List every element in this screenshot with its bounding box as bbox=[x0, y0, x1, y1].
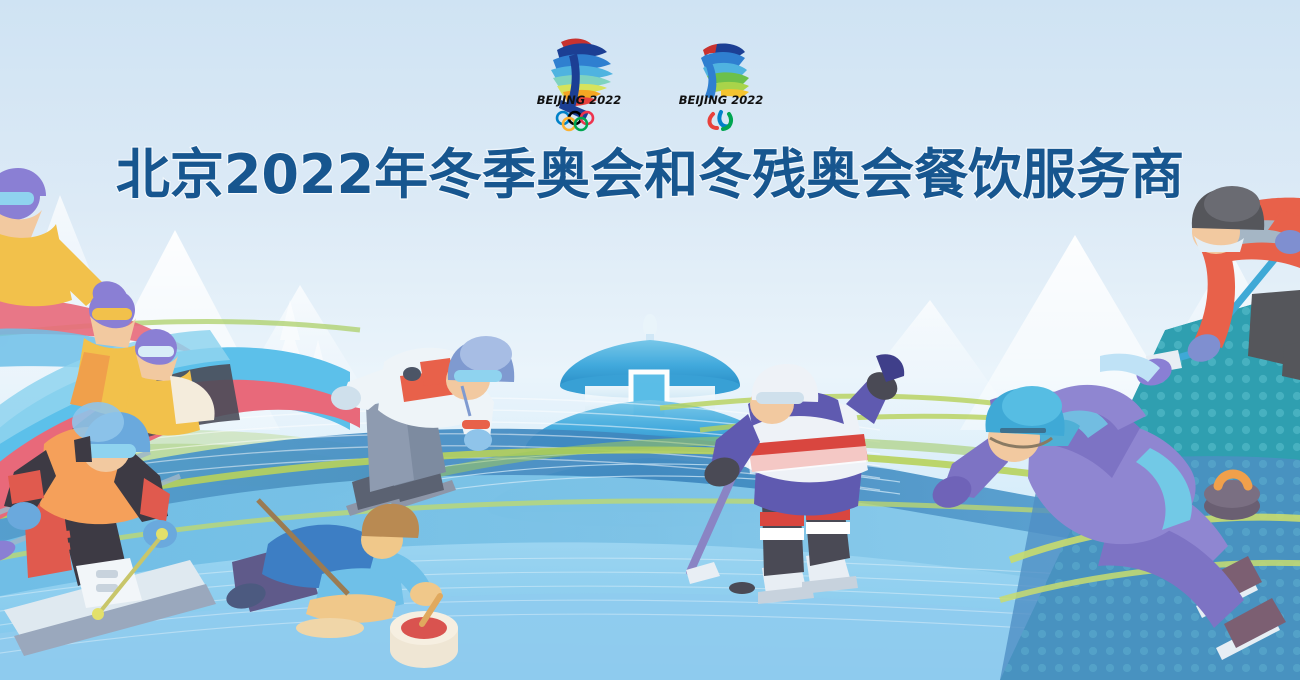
beijing-2022-olympic-emblem: BEIJING 2022 bbox=[531, 30, 627, 136]
page-title-wrap: 北京2022年冬季奥会和冬残奥会餐饮服务商 bbox=[0, 144, 1300, 206]
athlete-speed-skater bbox=[928, 385, 1286, 660]
athlete-ice-hockey bbox=[686, 354, 904, 604]
olympic-wordmark: BEIJING 2022 bbox=[537, 93, 622, 107]
page-title: 北京2022年冬季奥会和冬残奥会餐饮服务商 bbox=[116, 144, 1184, 206]
beijing-2022-paralympic-emblem: BEIJING 2022 bbox=[673, 30, 769, 136]
emblem-group: BEIJING 2022 bbox=[0, 30, 1300, 136]
olympic-ribbon-graphic bbox=[551, 39, 613, 120]
curling-stone-left bbox=[390, 596, 458, 668]
paralympic-ribbon-graphic bbox=[701, 43, 749, 100]
athlete-curler-delivery bbox=[224, 500, 458, 668]
paralympic-wordmark: BEIJING 2022 bbox=[679, 93, 764, 107]
agitos-icon bbox=[710, 112, 731, 129]
beijing-2022-catering-banner: BEIJING 2022 bbox=[0, 0, 1300, 680]
curling-stone-right bbox=[1204, 474, 1260, 520]
